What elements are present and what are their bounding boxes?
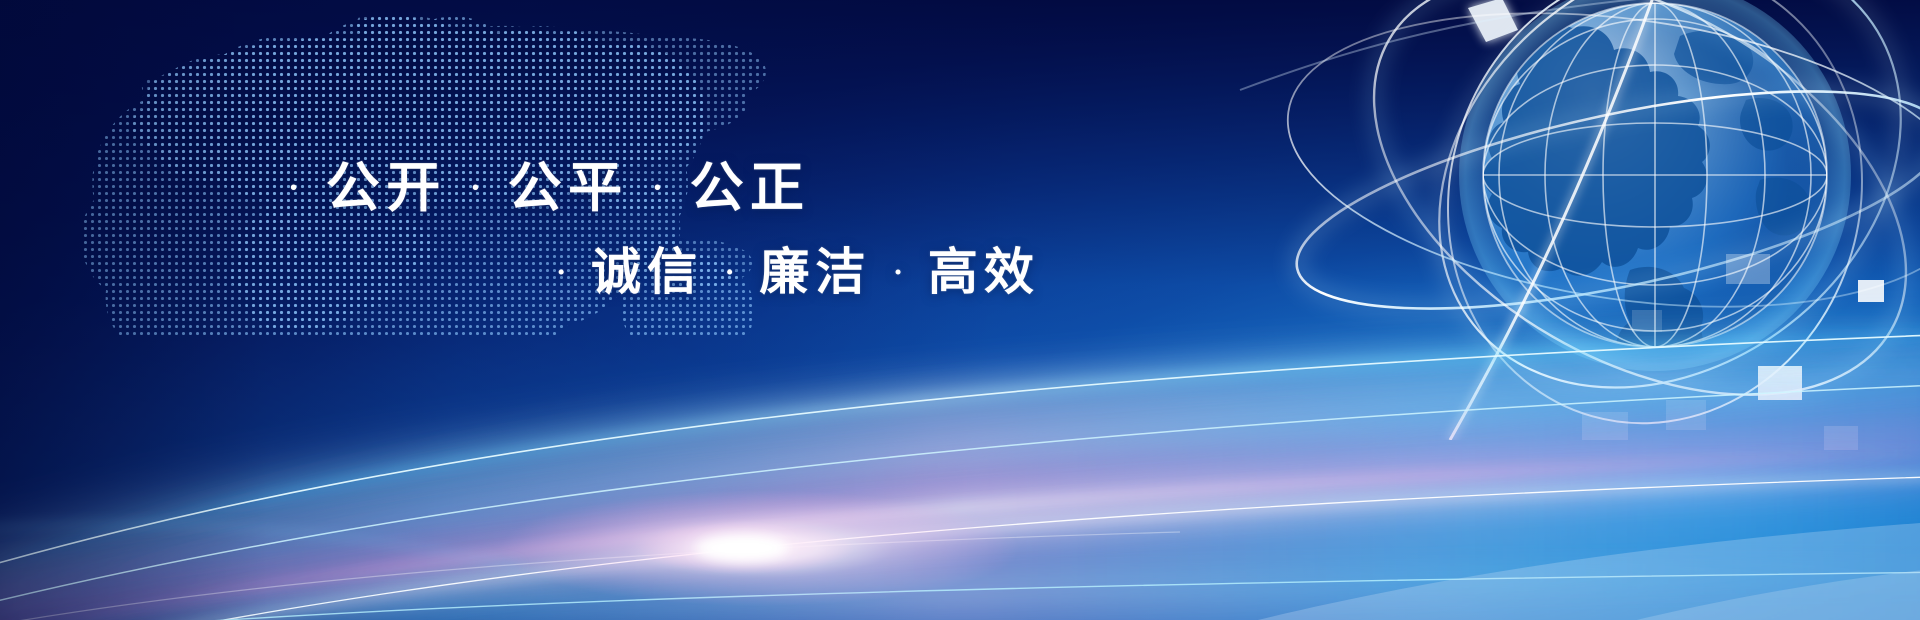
banner: · 公开 · 公平 · 公正 · 诚信 · 廉洁 · 高效 [0, 0, 1920, 620]
light-streak-waves [0, 280, 1920, 620]
